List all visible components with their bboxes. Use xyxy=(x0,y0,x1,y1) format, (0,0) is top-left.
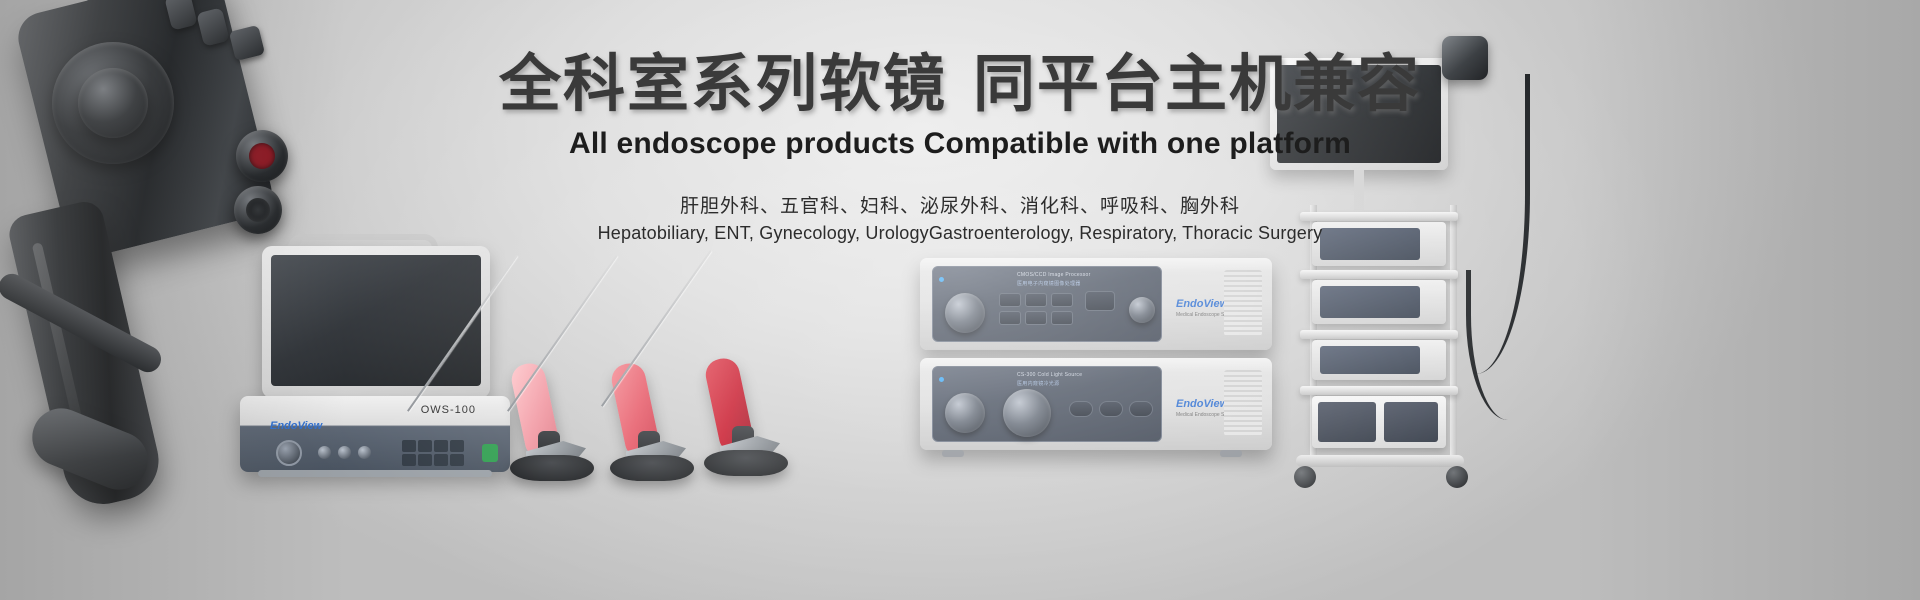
cart-base-plate xyxy=(1296,455,1464,467)
headline-part-2: 同平台主机兼容 xyxy=(973,50,1421,119)
workstation-keypad xyxy=(402,440,464,466)
workstation-knob xyxy=(276,440,302,466)
workstation-port-2 xyxy=(338,446,351,459)
cart-shelf-2 xyxy=(1300,270,1458,279)
departments-english: Hepatobiliary, ENT, Gynecology, UrologyG… xyxy=(0,223,1920,244)
processor-vent-grille xyxy=(1224,270,1262,336)
light-source-button-2 xyxy=(1099,401,1123,417)
cart-scope-cable-lower xyxy=(1466,270,1526,420)
instrument-stand-base xyxy=(610,455,694,481)
departments-block: 肝胆外科、五官科、妇科、泌尿外科、消化科、呼吸科、胸外科 Hepatobilia… xyxy=(0,191,1920,244)
workstation-display-bezel xyxy=(262,246,490,398)
workstation-port-3 xyxy=(358,446,371,459)
processor-title-en: CMOS/CCD Image Processor xyxy=(1017,272,1091,278)
cart-caster-left xyxy=(1294,466,1316,488)
processor-button-3 xyxy=(1051,293,1073,307)
processor-button-2 xyxy=(1025,293,1047,307)
workstation-power-indicator xyxy=(482,444,498,462)
product-banner: OWS-100 EndoView xyxy=(0,0,1920,600)
light-source-vent-grille xyxy=(1224,370,1262,436)
workstation-feet xyxy=(258,470,492,477)
processor-brand-label: EndoView xyxy=(1176,298,1228,310)
workstation-ows100-image: OWS-100 EndoView xyxy=(240,246,510,472)
workstation-brand-label: EndoView xyxy=(270,420,322,432)
rigid-instrument-3 xyxy=(702,250,852,480)
processor-button-4 xyxy=(999,311,1021,325)
page-subtitle: All endoscope products Compatible with o… xyxy=(0,127,1920,161)
light-source-brightness-dial xyxy=(1003,389,1051,437)
instrument-stand-base xyxy=(510,455,594,481)
processor-button-1 xyxy=(999,293,1021,307)
processor-scope-connector xyxy=(1129,297,1155,323)
processor-foot-right xyxy=(1220,450,1242,457)
processor-usb-port xyxy=(1085,291,1115,311)
processor-button-6 xyxy=(1051,311,1073,325)
light-source-brand-label: EndoView xyxy=(1176,398,1228,410)
cart-shelf-4 xyxy=(1300,386,1458,395)
page-title: 全科室系列软镜同平台主机兼容 xyxy=(0,52,1920,119)
light-source-button-3 xyxy=(1129,401,1153,417)
workstation-screen xyxy=(271,255,481,386)
processor-main-dial xyxy=(945,293,985,333)
banner-text-block: 全科室系列软镜同平台主机兼容 All endoscope products Co… xyxy=(0,52,1920,244)
processor-foot-left xyxy=(942,450,964,457)
light-source-unit: CS-300 Cold Light Source 医用内窥镜冷光源 EndoVi… xyxy=(920,358,1272,450)
processor-stack-image: CMOS/CCD Image Processor 医用电子内窥镜图像处理器 En… xyxy=(920,258,1272,468)
light-source-title-en: CS-300 Cold Light Source xyxy=(1017,372,1082,378)
instrument-stand-base xyxy=(704,450,788,476)
cart-device-3 xyxy=(1312,340,1446,380)
workstation-base-panel: OWS-100 EndoView xyxy=(240,396,510,472)
headline-part-1: 全科室系列软镜 xyxy=(499,50,947,119)
light-source-status-led xyxy=(939,377,944,382)
workstation-model-label: OWS-100 xyxy=(421,404,476,416)
light-source-title-cn: 医用内窥镜冷光源 xyxy=(1017,380,1059,387)
cart-device-4 xyxy=(1312,396,1446,448)
departments-chinese: 肝胆外科、五官科、妇科、泌尿外科、消化科、呼吸科、胸外科 xyxy=(0,191,1920,218)
light-source-scope-port xyxy=(945,393,985,433)
light-source-button-1 xyxy=(1069,401,1093,417)
processor-front-panel: CMOS/CCD Image Processor 医用电子内窥镜图像处理器 xyxy=(932,266,1162,342)
light-source-front-panel: CS-300 Cold Light Source 医用内窥镜冷光源 xyxy=(932,366,1162,442)
workstation-port-1 xyxy=(318,446,331,459)
cart-shelf-3 xyxy=(1300,330,1458,339)
cart-caster-right xyxy=(1446,466,1468,488)
processor-status-led xyxy=(939,277,944,282)
cart-device-2 xyxy=(1312,280,1446,324)
processor-title-cn: 医用电子内窥镜图像处理器 xyxy=(1017,280,1081,287)
processor-button-5 xyxy=(1025,311,1047,325)
image-processor-unit: CMOS/CCD Image Processor 医用电子内窥镜图像处理器 En… xyxy=(920,258,1272,350)
